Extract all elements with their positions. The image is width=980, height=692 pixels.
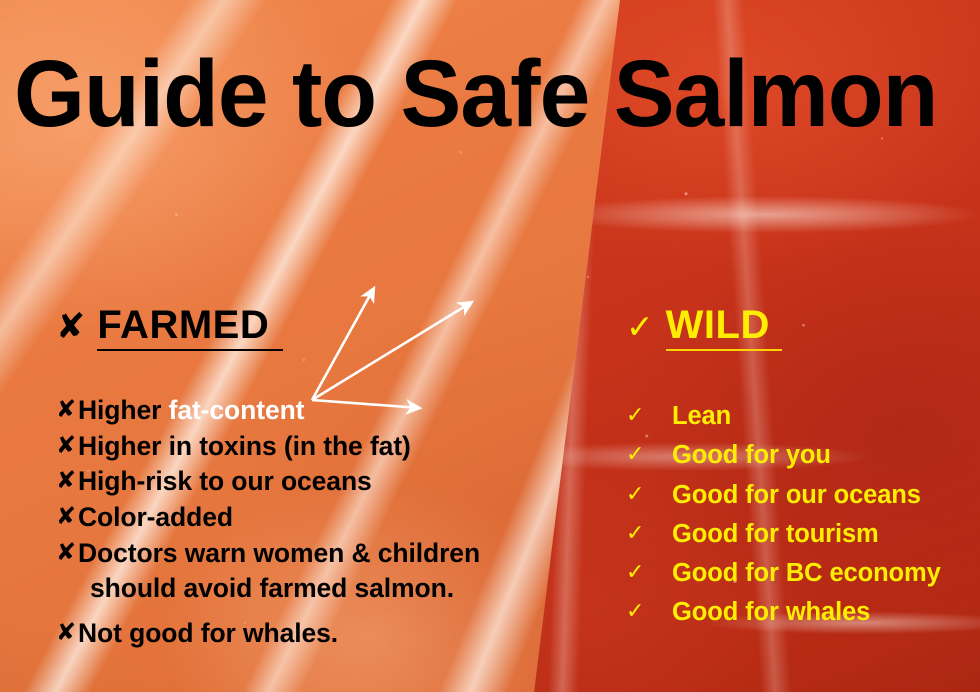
cross-icon: ✘ — [56, 429, 78, 463]
cross-icon: ✘ — [56, 500, 78, 534]
list-item-continuation: should avoid farmed salmon. — [56, 571, 556, 607]
check-icon: ✓ — [626, 515, 672, 550]
list-item: ✘ Color-added — [56, 500, 556, 536]
list-item-label: Good for you — [672, 436, 831, 475]
list-item-label: Not good for whales. — [78, 616, 556, 652]
list-item-label: Lean — [672, 397, 731, 436]
list-item-label: should avoid farmed salmon. — [78, 571, 556, 607]
farmed-heading-label: FARMED — [97, 305, 283, 351]
wild-column: ✓ WILD ✓ Lean ✓ Good for you ✓ Good for … — [626, 305, 976, 633]
page-title: Guide to Safe Salmon — [14, 47, 928, 142]
check-icon: ✓ — [626, 397, 672, 432]
list-item: ✓ Good for whales — [626, 593, 976, 632]
check-icon: ✓ — [626, 476, 672, 511]
cross-icon: ✘ — [56, 393, 78, 427]
list-item-label: Good for our oceans — [672, 476, 921, 515]
list-item-label: Higher fat-content — [78, 393, 556, 429]
wild-list: ✓ Lean ✓ Good for you ✓ Good for our oce… — [626, 397, 976, 633]
cross-icon: ✘ — [56, 616, 78, 650]
farmed-column: ✘ FARMED ✘ Higher fat-content ✘ Higher i… — [56, 305, 556, 651]
list-item: ✓ Good for BC economy — [626, 554, 976, 593]
list-item: ✘ Doctors warn women & children — [56, 536, 556, 572]
list-item: ✓ Good for our oceans — [626, 476, 976, 515]
list-item-label: High-risk to our oceans — [78, 464, 556, 500]
list-item-label: Higher in toxins (in the fat) — [78, 429, 556, 465]
wild-heading: ✓ WILD — [626, 305, 976, 351]
list-item-label: Good for tourism — [672, 515, 879, 554]
list-item-label: Good for whales — [672, 593, 870, 632]
list-item-label: Good for BC economy — [672, 554, 941, 593]
check-icon: ✓ — [626, 593, 672, 628]
cross-icon: ✘ — [56, 309, 85, 344]
list-item: ✓ Good for you — [626, 436, 976, 475]
farmed-list: ✘ Higher fat-content ✘ Higher in toxins … — [56, 393, 556, 651]
list-item: ✘ Higher in toxins (in the fat) — [56, 429, 556, 465]
list-item: ✘ Higher fat-content — [56, 393, 556, 429]
check-icon: ✓ — [626, 310, 654, 343]
list-item: ✘ High-risk to our oceans — [56, 464, 556, 500]
list-item: ✓ Good for tourism — [626, 515, 976, 554]
list-item: ✘ Not good for whales. — [56, 616, 556, 652]
cross-icon: ✘ — [56, 464, 78, 498]
highlight-text: fat-content — [169, 395, 305, 425]
list-item-label: Doctors warn women & children — [78, 536, 556, 572]
list-item: ✓ Lean — [626, 397, 976, 436]
wild-heading-label: WILD — [666, 305, 782, 351]
salmon-guide-poster: Guide to Safe Salmon ✘ FARMED ✘ Higher f… — [0, 0, 980, 692]
list-item-label: Color-added — [78, 500, 556, 536]
check-icon: ✓ — [626, 436, 672, 471]
check-icon: ✓ — [626, 554, 672, 589]
farmed-heading: ✘ FARMED — [56, 305, 556, 351]
cross-icon: ✘ — [56, 536, 78, 570]
